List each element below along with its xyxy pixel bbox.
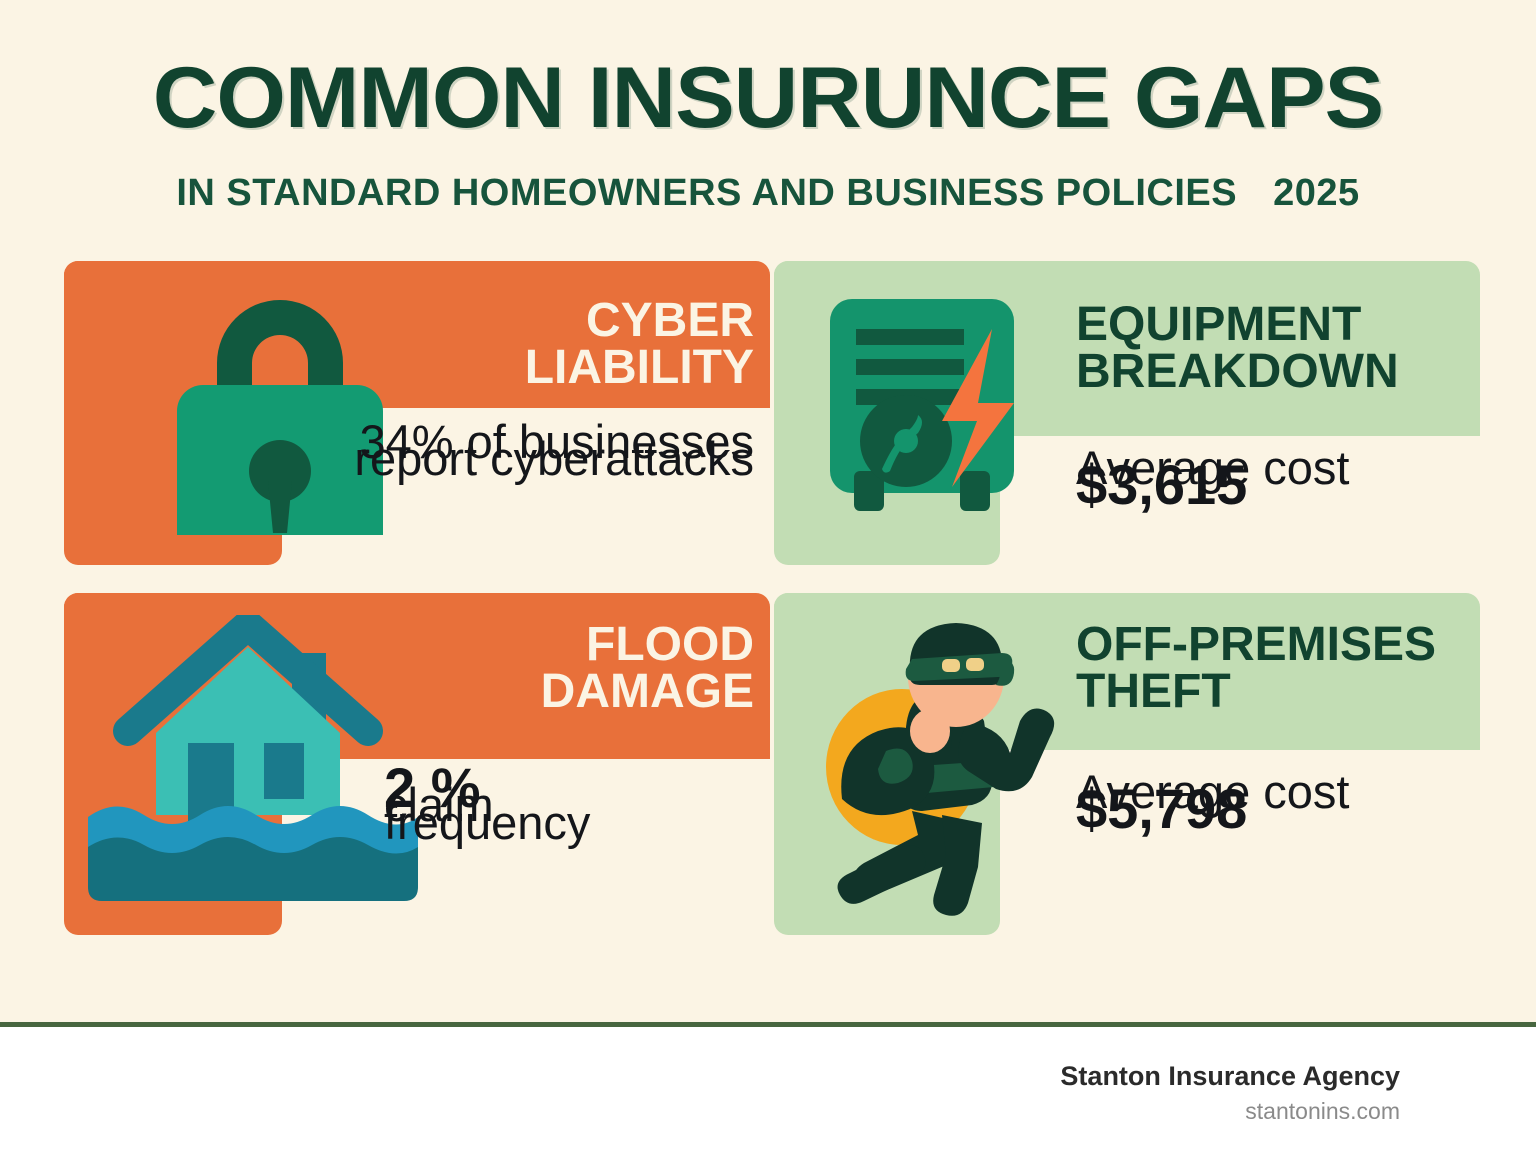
card-stat: Average cost $5,798: [1076, 783, 1468, 818]
card-title-line: FLOOD: [384, 621, 754, 668]
machine-breakdown-icon: [802, 291, 1042, 546]
card-stat: 2 % claim frequency: [384, 779, 754, 831]
card-flood-damage[interactable]: FLOOD DAMAGE FLOOD DAMAGE 2 % claim freq…: [64, 593, 770, 935]
card-title-line: OFF-PREMISES: [1076, 621, 1468, 668]
infographic-poster: COMMON INSURUNCE GAPS IN STANDARD HOMEOW…: [0, 0, 1536, 1154]
stat-line: report cyberattacks: [350, 450, 754, 467]
poster-footer: Stanton Insurance Agency stantonins.com …: [0, 1027, 1536, 1154]
card-title: CYBER LIABILITY: [354, 297, 754, 391]
footer-text-block: Stanton Insurance Agency stantonins.com: [1060, 1060, 1400, 1126]
subtitle-text: IN STANDARD HOMEOWNERS AND BUSINESS POLI…: [176, 172, 1237, 214]
card-cyber-liability[interactable]: CYBER LIABILITY 34% of businesses report…: [64, 261, 770, 565]
page-title: COMMON INSURUNCE GAPS: [0, 52, 1536, 144]
thief-running-icon: [806, 611, 1066, 935]
card-stat: Average cost $3,615: [1076, 459, 1466, 494]
stat-line: frequency: [384, 814, 754, 831]
card-title-line: DAMAGE: [384, 668, 754, 715]
card-equipment-breakdown[interactable]: EQUIPMENT BREAKDOWN Average cost $3,615: [774, 261, 1480, 565]
card-title: OFF-PREMISES THEFT OFF-PREMISES THEFT: [1076, 621, 1468, 715]
card-title: FLOOD DAMAGE FLOOD DAMAGE: [384, 621, 754, 715]
page-subtitle: IN STANDARD HOMEOWNERS AND BUSINESS POLI…: [0, 172, 1536, 215]
card-title-line: THEFT: [1076, 668, 1468, 715]
card-off-premises-theft[interactable]: OFF-PREMISES THEFT OFF-PREMISES THEFT Av…: [774, 593, 1480, 935]
poster-header: COMMON INSURUNCE GAPS IN STANDARD HOMEOW…: [0, 0, 1536, 250]
subtitle-year: 2025: [1273, 172, 1360, 214]
card-title: EQUIPMENT BREAKDOWN: [1076, 301, 1466, 395]
card-stat: 34% of businesses report cyberattacks: [350, 433, 754, 468]
agency-name: Stanton Insurance Agency: [1060, 1060, 1400, 1092]
agency-website[interactable]: stantonins.com: [1060, 1096, 1400, 1126]
